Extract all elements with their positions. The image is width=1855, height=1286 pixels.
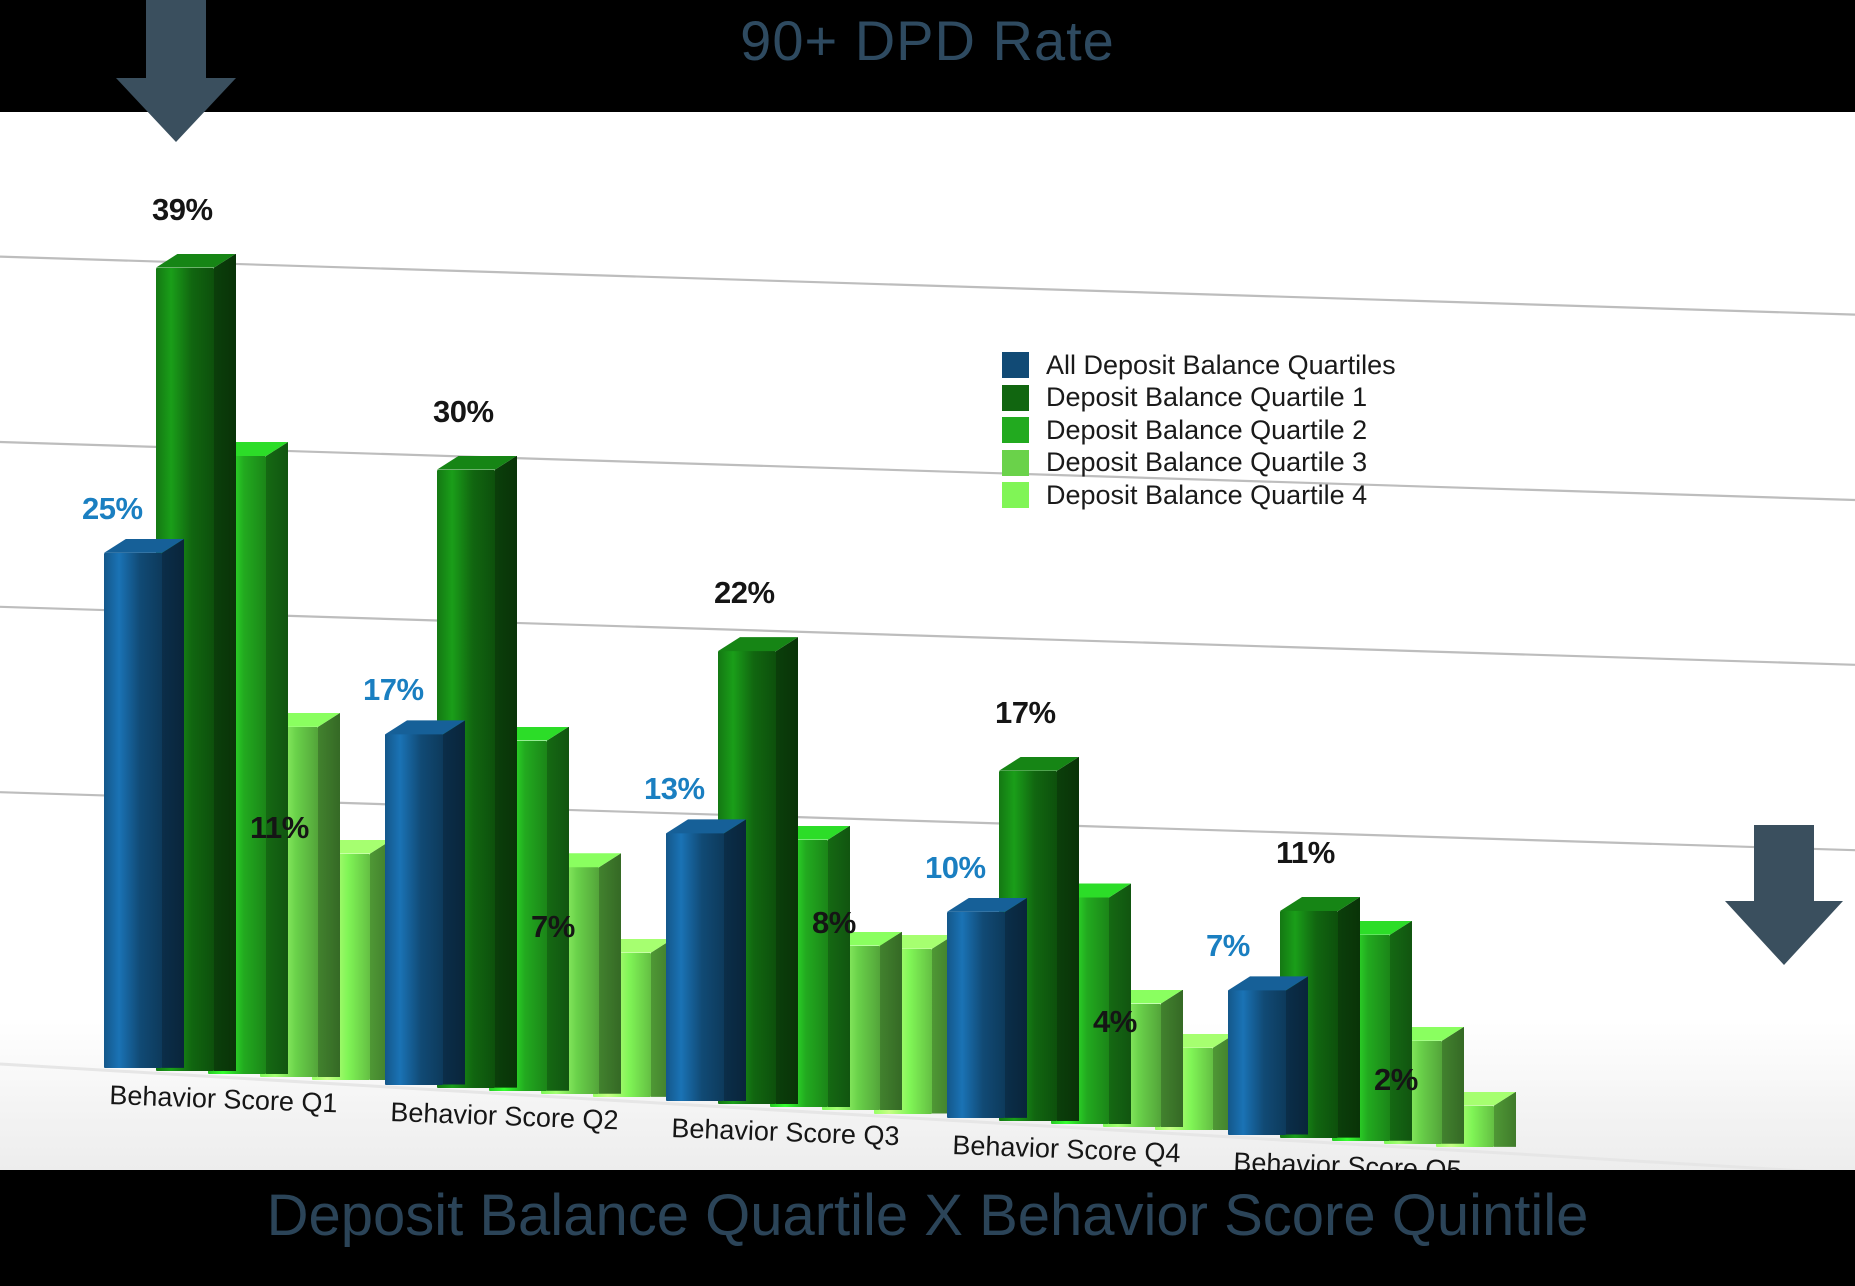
legend-swatch-icon [1002,352,1029,378]
bar-side-face [1161,990,1183,1128]
bar-behavior-score-q2-series-1 [385,734,443,1084]
value-label: 4% [1093,1004,1137,1040]
legend-label: All Deposit Balance Quartiles [1046,352,1396,379]
value-label: 17% [995,695,1056,731]
value-label: 22% [714,575,775,611]
bar-front-face [104,553,162,1068]
legend-label: Deposit Balance Quartile 2 [1046,417,1367,444]
bar-front-face [947,912,1005,1118]
legend-label: Deposit Balance Quartile 3 [1046,449,1367,476]
legend-item-1: All Deposit Balance Quartiles [1002,349,1396,382]
bar-side-face [495,456,517,1088]
bar-side-face [443,720,465,1084]
value-label: 7% [1206,928,1250,964]
legend-item-5: Deposit Balance Quartile 4 [1002,479,1396,512]
legend-item-3: Deposit Balance Quartile 2 [1002,414,1396,447]
arrow-down-icon-left [116,0,236,142]
bar-behavior-score-q1-series-1 [104,553,162,1068]
bar-side-face [1442,1027,1464,1144]
bar-behavior-score-q4-series-1 [947,912,1005,1118]
legend-swatch-icon [1002,385,1029,411]
legend-item-4: Deposit Balance Quartile 3 [1002,447,1396,480]
value-label: 2% [1374,1062,1418,1098]
value-label: 39% [152,192,213,228]
bar-side-face [1005,898,1027,1118]
legend-label: Deposit Balance Quartile 4 [1046,482,1367,509]
bar-front-face [666,833,724,1101]
chart-screenshot: 90+ DPD Rate 25%39%11%17%30%7%13%22%8%10… [0,0,1855,1286]
legend-swatch-icon [1002,450,1029,476]
title-band: 90+ DPD Rate [0,0,1855,112]
plot-area: 25%39%11%17%30%7%13%22%8%10%17%4%7%11%2%… [0,112,1855,1170]
bar-side-face [776,637,798,1104]
bar-side-face [880,932,902,1111]
arrow-down-icon-right [1725,825,1843,965]
bar-side-face [724,819,746,1101]
value-label: 11% [250,810,309,846]
value-label: 17% [363,672,424,708]
bar-side-face [214,254,236,1071]
bar-side-face [1390,921,1412,1141]
bar-side-face [1057,757,1079,1121]
bar-side-face [599,853,621,1094]
bar-side-face [828,826,850,1108]
page-title: 90+ DPD Rate [0,8,1855,73]
legend: All Deposit Balance QuartilesDeposit Bal… [1002,349,1396,512]
value-label: 13% [644,771,705,807]
bar-behavior-score-q3-series-1 [666,833,724,1101]
legend-swatch-icon [1002,417,1029,443]
bar-side-face [266,442,288,1074]
bar-side-face [318,713,340,1077]
value-label: 8% [812,905,856,941]
value-label: 11% [1276,835,1335,871]
bar-side-face [1286,976,1308,1134]
legend-swatch-icon [1002,482,1029,508]
bar-front-face [385,734,443,1084]
legend-item-2: Deposit Balance Quartile 1 [1002,382,1396,415]
bar-behavior-score-q5-series-1 [1228,990,1286,1134]
value-label: 30% [433,394,494,430]
bar-side-face [1338,897,1360,1138]
caption-band: Deposit Balance Quartile X Behavior Scor… [0,1170,1855,1286]
bar-side-face [162,539,184,1068]
value-label: 25% [82,491,143,527]
axis-caption: Deposit Balance Quartile X Behavior Scor… [0,1182,1855,1249]
bar-front-face [1228,990,1286,1134]
value-label: 10% [925,850,986,886]
value-label: 7% [531,909,575,945]
legend-label: Deposit Balance Quartile 1 [1046,384,1367,411]
